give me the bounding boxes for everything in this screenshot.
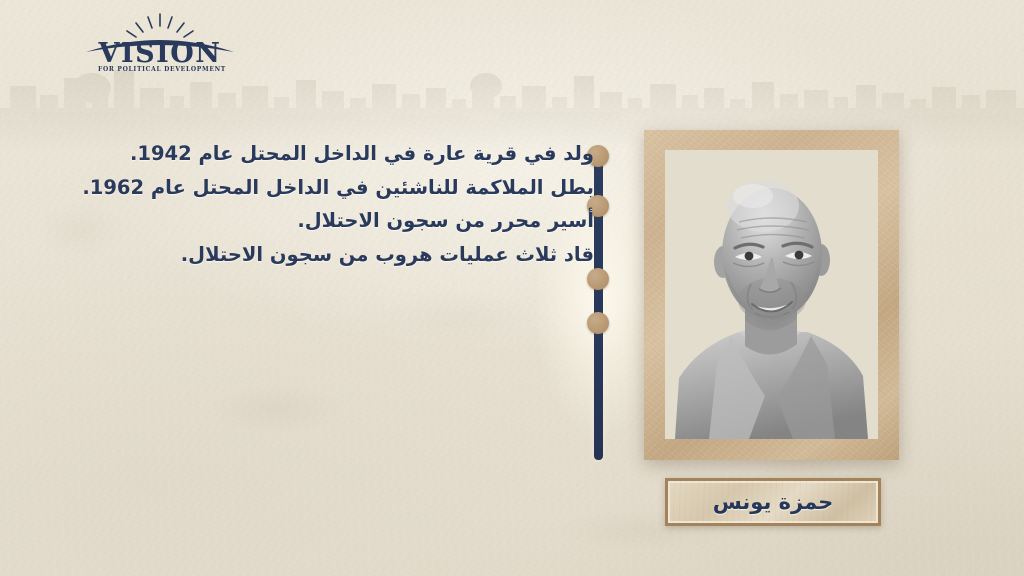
sunburst-arc-icon: [127, 14, 193, 37]
portrait-window: [665, 150, 878, 439]
slide-canvas: VISION FOR POLITICAL DEVELOPMENT ولد في …: [0, 0, 1024, 576]
portrait-photo: [665, 150, 878, 439]
fact-item: بطل الملاكمة للناشئين في الداخل المحتل ع…: [74, 172, 594, 204]
facts-list: ولد في قرية عارة في الداخل المحتل عام 19…: [74, 138, 594, 272]
fact-item: أسير محرر من سجون الاحتلال.: [74, 205, 594, 237]
nameplate: حمزة يونس: [665, 478, 881, 526]
person-name: حمزة يونس: [665, 478, 881, 526]
logo-tagline: FOR POLITICAL DEVELOPMENT: [98, 66, 226, 73]
logo-wordmark: VISION: [98, 38, 222, 69]
portrait-frame: [644, 130, 899, 460]
vision-logo: VISION FOR POLITICAL DEVELOPMENT: [70, 12, 250, 74]
timeline-dot: [587, 312, 609, 334]
fact-item: ولد في قرية عارة في الداخل المحتل عام 19…: [74, 138, 594, 170]
fact-item: قاد ثلاث عمليات هروب من سجون الاحتلال.: [74, 239, 594, 271]
